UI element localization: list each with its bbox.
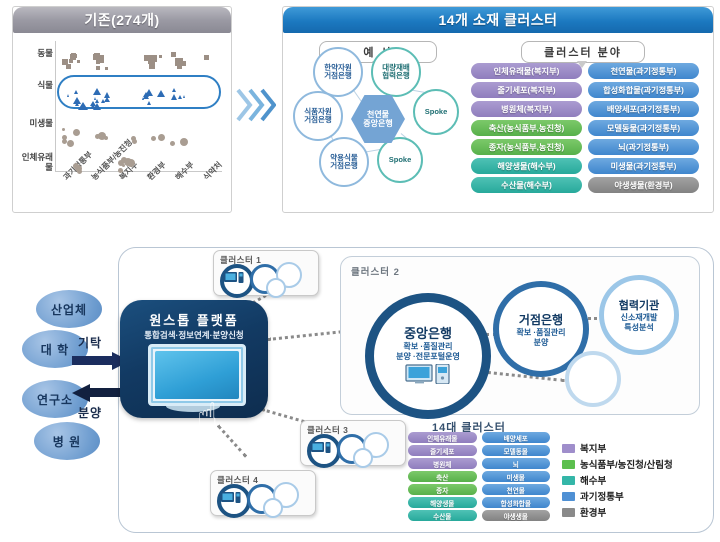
scatter-point (104, 136, 108, 140)
cluster-card-3[interactable]: 클러스터 3 (300, 420, 406, 466)
hub-bank-line1: 확보 ·품질관리 (516, 328, 565, 338)
cluster-card-node-4 (353, 448, 373, 468)
legend-pill[interactable]: 합성화합물 (482, 497, 551, 508)
hub-node[interactable]: 약용식물거점은행 (319, 137, 369, 187)
hub-node-line: 거점은행 (304, 116, 332, 124)
cluster-pill[interactable]: 해양생물(해수부) (471, 158, 582, 174)
cluster-pill-row: 축산(농식품부,농진청)모델동물(과기정통부) (471, 120, 699, 136)
scatter-point (144, 55, 150, 61)
stakeholder-label: 연구소 (37, 391, 73, 408)
central-bank-hexagon[interactable]: 천연물중앙은행 (351, 95, 405, 143)
platform-subtitle: 통합검색·정보연계·분양신청 (120, 329, 268, 341)
hexagon-line: 천연물 (367, 110, 389, 119)
central-bank-line2: 분양 ·전문포털운영 (396, 352, 460, 362)
scatter-point (94, 53, 100, 59)
hub-and-spoke-diagram: 한약자원거점은행대량재배협력은행SpokeSpoke약용식물거점은행식품자원거점… (301, 45, 471, 195)
scatter-point (96, 66, 100, 70)
scatter-point (171, 52, 176, 57)
legend-pill-grid: 인체유래물배양세포줄기세포모델동물병원체뇌축산미생물종자천연물해양생물합성화합물… (408, 432, 550, 523)
legend-pill[interactable]: 해양생물 (408, 497, 477, 508)
legend-pill-row: 인체유래물배양세포 (408, 432, 550, 443)
scatter-point (170, 141, 175, 146)
hub-node[interactable]: Spoke (377, 137, 423, 183)
legend-key-label: 농식품부/농진청/산림청 (580, 457, 673, 471)
scatter-point (171, 91, 177, 100)
legend-pill[interactable]: 뇌 (482, 458, 551, 469)
legend-key-row: 복지부 (562, 441, 673, 455)
scatter-point (204, 55, 209, 60)
server-icon (405, 364, 451, 389)
cluster2-panel: 클러스터 2 중앙은행 확보 ·품질관리 분양 ·전문포털운영 거점은행 확보 … (340, 256, 700, 415)
scatter-y-label: 동물 (17, 49, 53, 59)
stakeholder-1[interactable]: 산업체 (36, 290, 102, 328)
legend-pill[interactable]: 모델동물 (482, 445, 551, 456)
legend-key-row: 환경부 (562, 505, 673, 519)
scatter-point (73, 129, 80, 136)
hub-node[interactable]: 식품자원거점은행 (293, 91, 343, 141)
legend-key-swatch (562, 476, 575, 485)
legend-pill[interactable]: 배양세포 (482, 432, 551, 443)
scatter-point (147, 98, 151, 105)
cluster-pill[interactable]: 줄기세포(복지부) (471, 82, 582, 98)
cluster-field-callout: 클러스터 분야 (521, 41, 645, 63)
scatter-point (67, 140, 74, 147)
scatter-point (177, 64, 182, 69)
legend-key-row: 과기정통부 (562, 489, 673, 503)
hub-node[interactable]: 한약자원거점은행 (313, 47, 363, 97)
legend-key-swatch (562, 444, 575, 453)
hub-node[interactable]: Spoke (413, 89, 459, 135)
cluster-pill[interactable]: 야생생물(환경부) (588, 177, 699, 193)
hub-node-line: Spoke (425, 108, 448, 116)
cluster-pill[interactable]: 배양세포(과기정통부) (588, 101, 699, 117)
legend-pill-row: 줄기세포모델동물 (408, 445, 550, 456)
cluster-pill-row: 인체유래물(복지부)천연물(과기정통부) (471, 63, 699, 79)
legend-pill[interactable]: 병원체 (408, 458, 477, 469)
legend-pill-row: 수산물야생생물 (408, 510, 550, 521)
one-stop-platform[interactable]: 원스톱 플랫폼 통합검색·정보연계·분양신청 ☝ (120, 300, 268, 418)
server-icon (224, 271, 244, 289)
legend-pill[interactable]: 미생물 (482, 471, 551, 482)
monitor-icon: ☝ (148, 344, 246, 406)
stakeholder-label: 병 원 (53, 433, 81, 450)
partner-org-line1: 신소재개발 (621, 313, 658, 323)
cluster2-label: 클러스터 2 (351, 264, 400, 278)
scatter-y-label: 식물 (17, 81, 53, 91)
legend-key-swatch (562, 508, 575, 517)
partner-org-line2: 특성분석 (624, 323, 653, 333)
hub-node-line: 거점은행 (330, 162, 358, 170)
transition-arrow-icon (236, 86, 276, 124)
legend-pill-row: 종자천연물 (408, 484, 550, 495)
stakeholder-label: 대 학 (41, 341, 69, 358)
cluster-pill[interactable]: 모델동물(과기정통부) (588, 120, 699, 136)
legend-key-row: 농식품부/농진청/산림청 (562, 457, 673, 471)
existing-resources-panel: 기존(274개) 동물식물미생물인체유래물 과기정통부농식품부/농진청복지부환경… (12, 6, 232, 213)
server-icon (311, 441, 331, 459)
flow-label-deposit: 기탁 (78, 334, 102, 351)
scatter-point (77, 60, 80, 63)
legend-pill[interactable]: 수산물 (408, 510, 477, 521)
central-bank-title: 중앙은행 (404, 323, 452, 342)
partner-org-circle[interactable]: 협력기관 신소재개발 특성분석 (599, 275, 679, 355)
hub-bank-line2: 분양 (534, 338, 549, 348)
stakeholder-label: 산업체 (51, 301, 87, 318)
cluster-pill[interactable]: 인체유래물(복지부) (471, 63, 582, 79)
central-bank-circle[interactable]: 중앙은행 확보 ·품질관리 분양 ·전문포털운영 (365, 293, 491, 419)
scatter-point (90, 98, 96, 106)
cluster-card-1[interactable]: 클러스터 1 (213, 250, 319, 296)
server-icon (221, 491, 241, 509)
partner-org-title: 협력기관 (619, 297, 659, 313)
hand-pointer-icon: ☝ (197, 399, 218, 433)
cluster-pill[interactable]: 종자(농식품부,농진청) (471, 139, 582, 155)
legend-pill[interactable]: 축산 (408, 471, 477, 482)
scatter-point (93, 85, 101, 95)
hexagon-line: 중앙은행 (363, 119, 392, 128)
cluster-pill[interactable]: 천연물(과기정통부) (588, 63, 699, 79)
legend-key-label: 과기정통부 (580, 489, 624, 503)
hub-node-line: Spoke (389, 156, 412, 164)
scatter-point (105, 67, 108, 70)
scatter-y-label: 인체유래물 (17, 153, 53, 173)
cluster-overview-panel: 14개 소재 클러스터 예 시 클러스터 분야 한약자원거점은행대량재배협력은행… (282, 6, 714, 213)
scatter-point (157, 87, 165, 97)
stakeholder-4[interactable]: 병 원 (34, 422, 100, 460)
cluster-pill-row: 수산물(해수부)야생생물(환경부) (471, 177, 699, 193)
scatter-point (62, 135, 67, 140)
legend-key-label: 복지부 (580, 441, 606, 455)
cluster-card-node-4 (266, 278, 286, 298)
scatter-point (178, 92, 182, 99)
hub-node[interactable]: 대량재배협력은행 (371, 47, 421, 97)
cluster-pill-row: 줄기세포(복지부)합성화합물(과기정통부) (471, 82, 699, 98)
hub-node-line: 협력은행 (382, 72, 410, 80)
legend-pill[interactable]: 종자 (408, 484, 477, 495)
legend-key-row: 해수부 (562, 473, 673, 487)
cluster-pill-row: 해양생물(해수부)미생물(과기정통부) (471, 158, 699, 174)
panel-title-clusters: 14개 소재 클러스터 (283, 7, 713, 33)
scatter-point (118, 168, 123, 173)
scatter-point (77, 169, 82, 174)
legend-pill[interactable]: 천연물 (482, 484, 551, 495)
legend-key-label: 환경부 (580, 505, 606, 519)
cluster-pill[interactable]: 병원체(복지부) (471, 101, 582, 117)
cluster-card-4[interactable]: 클러스터 4 (210, 470, 316, 516)
legend-pill-row: 축산미생물 (408, 471, 550, 482)
legend-pill[interactable]: 야생생물 (482, 510, 551, 521)
cluster-pill[interactable]: 축산(농식품부,농진청) (471, 120, 582, 136)
empty-spoke-circle (565, 351, 621, 407)
scatter-point (67, 91, 69, 97)
scatter-point (104, 89, 110, 98)
cluster-pill[interactable]: 수산물(해수부) (471, 177, 582, 193)
scatter-point (150, 55, 157, 62)
legend-key-label: 해수부 (580, 473, 606, 487)
legend-key-swatch (562, 460, 575, 469)
scatter-point (159, 55, 162, 58)
scatter-point (70, 54, 76, 60)
legend-pill[interactable]: 인체유래물 (408, 432, 477, 443)
cluster-field-pill-grid: 인체유래물(복지부)천연물(과기정통부)줄기세포(복지부)합성화합물(과기정통부… (471, 63, 699, 196)
scatter-point (183, 92, 185, 98)
scatter-point (149, 63, 155, 69)
legend-pill-row: 해양생물합성화합물 (408, 497, 550, 508)
central-bank-line1: 확보 ·품질관리 (403, 342, 452, 352)
hub-bank-title: 거점은행 (519, 311, 563, 328)
flow-label-distribute: 분양 (78, 404, 102, 421)
legend-key-swatch (562, 492, 575, 501)
cluster-pill[interactable]: 뇌(과기정통부) (588, 139, 699, 155)
legend-pill-row: 병원체뇌 (408, 458, 550, 469)
legend-pill[interactable]: 줄기세포 (408, 445, 477, 456)
scatter-point (73, 94, 81, 104)
hub-node-line: 거점은행 (324, 72, 352, 80)
scatter-y-label: 미생물 (17, 119, 53, 129)
platform-title: 원스톱 플랫폼 (120, 310, 268, 329)
monitor-screen (155, 351, 239, 399)
cluster-pill[interactable]: 합성화합물(과기정통부) (588, 82, 699, 98)
cluster-pill-row: 병원체(복지부)배양세포(과기정통부) (471, 101, 699, 117)
panel-title-existing: 기존(274개) (13, 7, 231, 33)
cluster-pill[interactable]: 미생물(과기정통부) (588, 158, 699, 174)
cluster-pill-row: 종자(농식품부,농진청)뇌(과기정통부) (471, 139, 699, 155)
legend-key-list: 복지부농식품부/농진청/산림청해수부과기정통부환경부 (562, 441, 673, 521)
cluster-card-node-4 (263, 498, 283, 518)
scatter-point (62, 59, 68, 65)
